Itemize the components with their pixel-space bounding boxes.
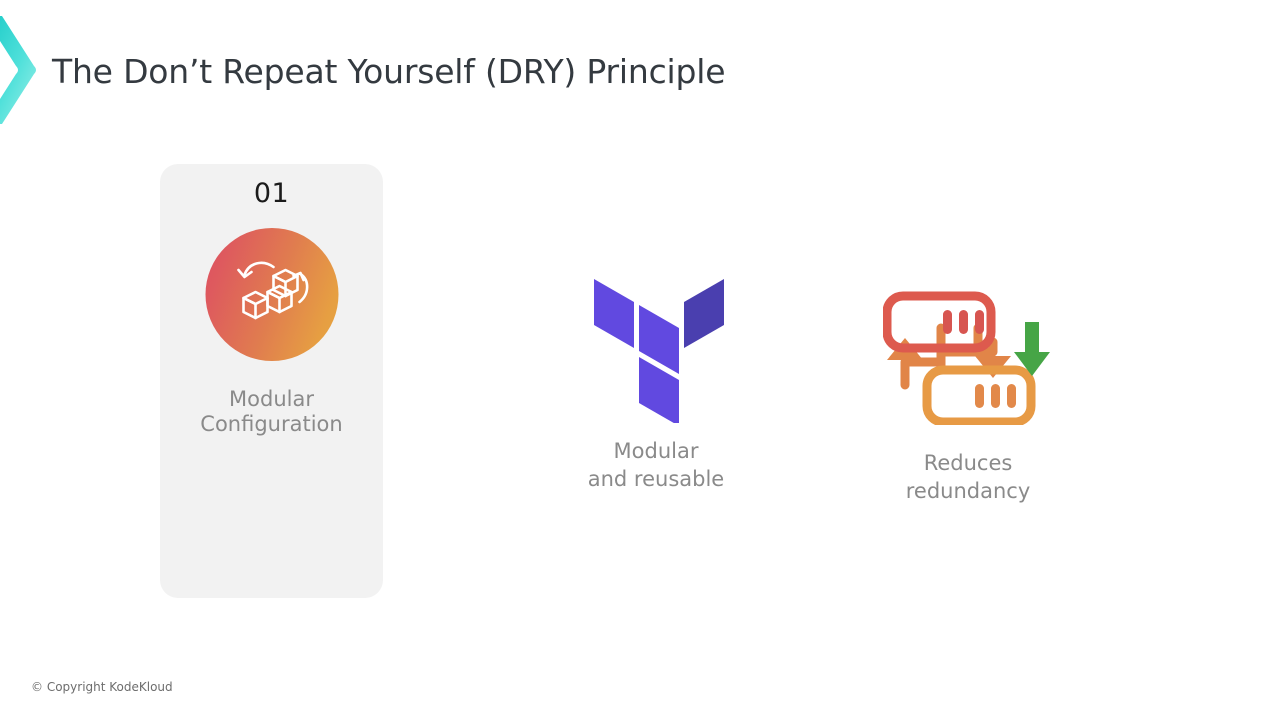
redundancy-art-wrapper <box>838 292 1098 427</box>
card-caption-line2: Configuration <box>160 412 383 437</box>
terraform-art-wrapper <box>526 262 786 427</box>
icon-block-redundancy[interactable]: Reduces redundancy <box>838 292 1098 505</box>
redundancy-caption-line2: redundancy <box>838 477 1098 505</box>
card-icon-badge <box>205 228 338 361</box>
terraform-caption: Modular and reusable <box>526 437 786 493</box>
feature-card-01[interactable]: 01 <box>160 164 383 598</box>
footer-copyright: © Copyright KodeKloud <box>31 680 173 694</box>
terraform-caption-line1: Modular <box>526 437 786 465</box>
terraform-caption-line2: and reusable <box>526 465 786 493</box>
card-caption-line1: Modular <box>160 387 383 412</box>
redundancy-caption: Reduces redundancy <box>838 449 1098 505</box>
card-index-label: 01 <box>160 178 383 209</box>
card-caption: Modular Configuration <box>160 387 383 437</box>
kodekloud-chevron-logo <box>0 16 40 124</box>
redundancy-caption-line1: Reduces <box>838 449 1098 477</box>
slide-canvas: The Don’t Repeat Yourself (DRY) Principl… <box>0 0 1280 720</box>
terraform-logo-icon <box>586 263 726 427</box>
server-replication-icon <box>883 290 1053 429</box>
modular-blocks-icon <box>230 256 314 334</box>
page-title: The Don’t Repeat Yourself (DRY) Principl… <box>52 52 725 91</box>
icon-block-terraform[interactable]: Modular and reusable <box>526 262 786 493</box>
